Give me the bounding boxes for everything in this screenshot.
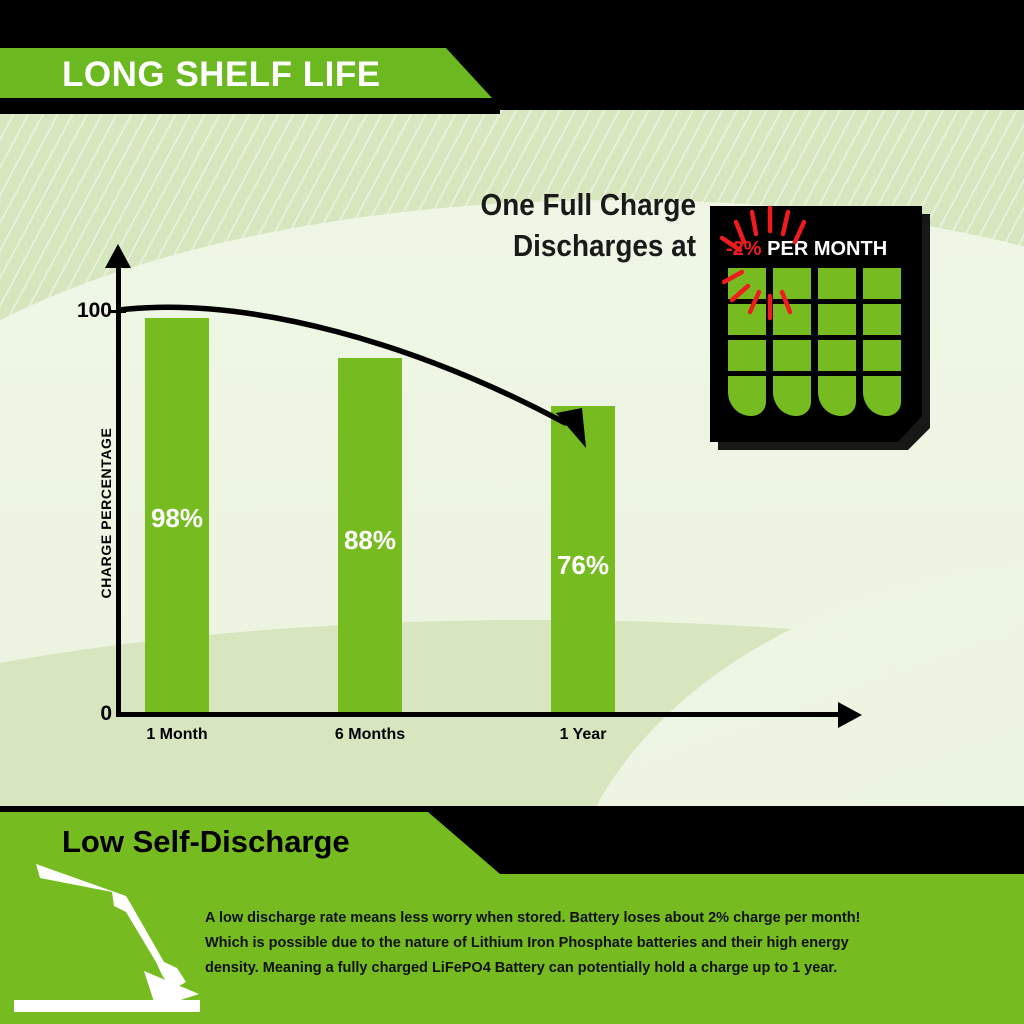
x-axis [116,712,842,717]
bar: 76% [551,406,615,712]
bar-value-label: 88% [338,525,402,556]
y-axis-title: CHARGE PERCENTAGE [98,393,114,633]
y-axis-arrowhead [105,244,131,268]
x-axis-tick-label: 1 Year [503,726,663,744]
bar: 88% [338,358,402,712]
y-axis-label-100: 100 [68,299,112,323]
y-axis-label-0: 0 [68,702,112,726]
y-axis-tick-100 [110,310,126,313]
bar-value-label: 76% [551,550,615,581]
y-axis [116,262,121,717]
bar-value-label: 98% [145,503,209,534]
infographic-canvas: LONG SHELF LIFE One Full Charge Discharg… [0,0,1024,1024]
bar: 98% [145,318,209,712]
footer-paragraph: A low discharge rate means less worry wh… [205,906,905,981]
x-axis-tick-label: 1 Month [97,726,257,744]
declining-arrow-icon [14,856,224,1024]
x-axis-tick-label: 6 Months [290,726,450,744]
x-axis-arrowhead [838,702,862,728]
